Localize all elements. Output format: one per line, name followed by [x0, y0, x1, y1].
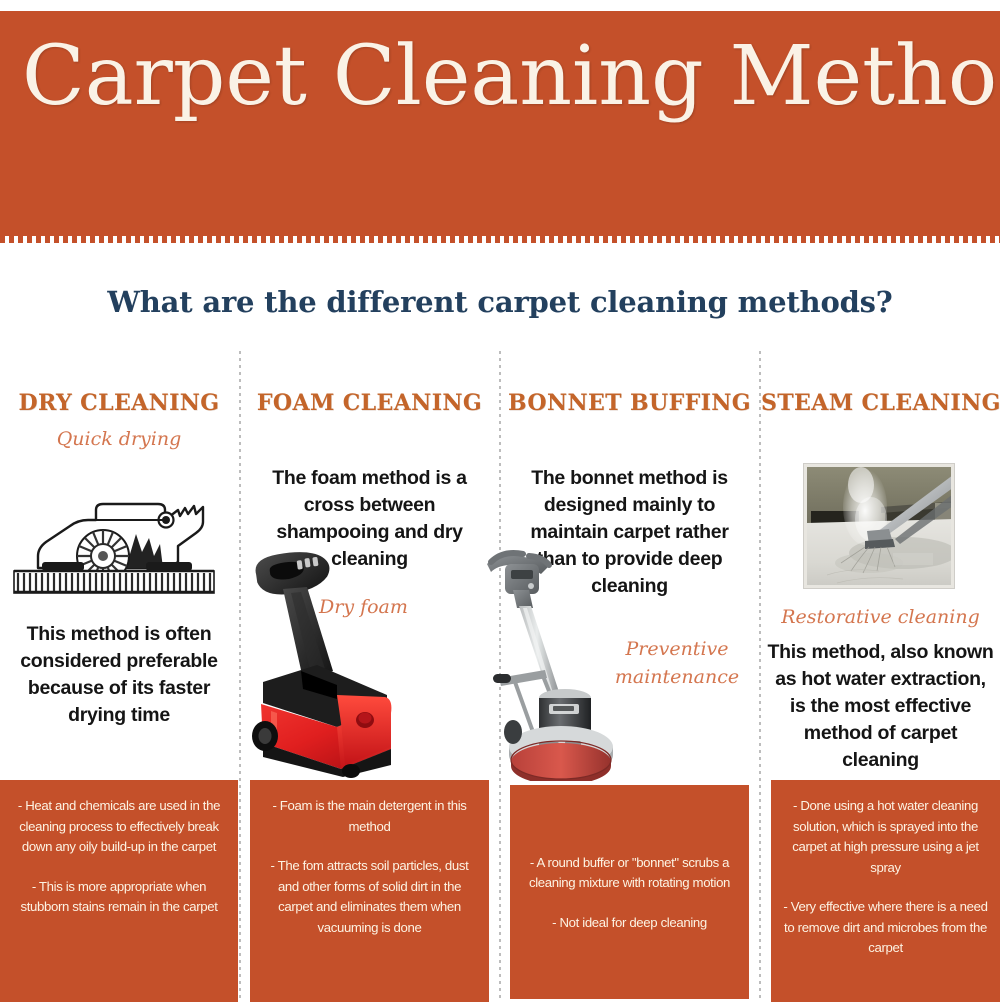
foam-cleaning-machine-icon — [241, 543, 396, 778]
description-dry-cleaning: This method is often considered preferab… — [0, 621, 238, 729]
fact-item: - The fom attracts soil particles, dust … — [260, 856, 479, 938]
dry-cleaning-machine-icon — [8, 476, 220, 596]
steam-cleaning-photo — [804, 464, 954, 588]
floor-buffer-machine-icon — [485, 546, 615, 781]
header-dotted-divider — [0, 236, 1000, 243]
column-title-dry-cleaning: DRY CLEANING — [0, 389, 238, 417]
page-title: Carpet Cleaning Methods — [22, 29, 1000, 125]
fact-item: - A round buffer or "bonnet" scrubs a cl… — [520, 853, 739, 894]
method-column-steam-cleaning: STEAM CLEANING — [761, 351, 1000, 1001]
fact-box-bonnet-buffing: - A round buffer or "bonnet" scrubs a cl… — [510, 785, 749, 999]
column-title-steam-cleaning: STEAM CLEANING — [761, 389, 1000, 417]
fact-item: - Not ideal for deep cleaning — [520, 913, 739, 934]
tagline-bonnet-buffing: Preventive maintenance — [597, 635, 757, 691]
header-banner: Carpet Cleaning Methods — [0, 11, 1000, 243]
tagline-foam-cleaning: Dry foam — [319, 595, 494, 619]
method-column-foam-cleaning: FOAM CLEANING The foam method is a cross… — [241, 351, 498, 1001]
tagline-dry-cleaning: Quick drying — [0, 427, 238, 451]
fact-box-dry-cleaning: - Heat and chemicals are used in the cle… — [0, 780, 238, 1002]
infographic-page: Carpet Cleaning Methods What are the dif… — [0, 0, 1000, 1000]
column-title-foam-cleaning: FOAM CLEANING — [241, 389, 498, 417]
method-column-bonnet-buffing: BONNET BUFFING The bonnet method is desi… — [501, 351, 758, 1001]
fact-item: - Very effective where there is a need t… — [781, 897, 990, 959]
fact-item: - Done using a hot water cleaning soluti… — [781, 796, 990, 878]
subtitle-question: What are the different carpet cleaning m… — [0, 281, 1000, 323]
column-title-bonnet-buffing: BONNET BUFFING — [501, 389, 758, 417]
fact-item: - Heat and chemicals are used in the cle… — [10, 796, 228, 858]
tagline-steam-cleaning: Restorative cleaning — [761, 605, 1000, 629]
description-steam-cleaning: This method, also known as hot water ext… — [761, 639, 1000, 774]
fact-box-foam-cleaning: - Foam is the main detergent in this met… — [250, 780, 489, 1002]
method-column-dry-cleaning: DRY CLEANING Quick drying — [0, 351, 238, 1001]
fact-box-steam-cleaning: - Done using a hot water cleaning soluti… — [771, 780, 1000, 1002]
fact-item: - This is more appropriate when stubborn… — [10, 877, 228, 918]
fact-item: - Foam is the main detergent in this met… — [260, 796, 479, 837]
